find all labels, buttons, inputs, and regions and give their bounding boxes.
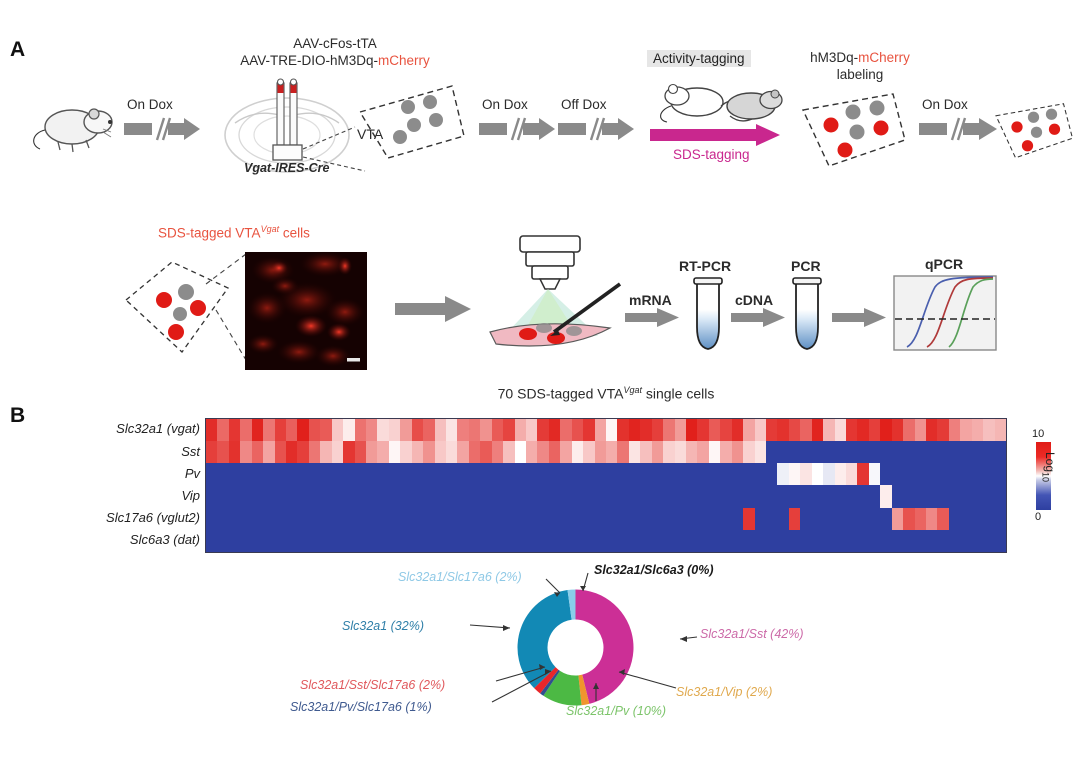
sds-tagged-cells-suffix: cells <box>279 226 310 241</box>
heatmap-cell <box>457 441 468 463</box>
heatmap-cell <box>457 463 468 485</box>
heatmap-cell <box>960 485 971 507</box>
heatmap-cell <box>446 441 457 463</box>
heatmap-cell <box>697 530 708 552</box>
heatmap-cell <box>377 530 388 552</box>
heatmap-cell <box>606 441 617 463</box>
heatmap-cell <box>309 441 320 463</box>
heatmap-cell <box>972 419 983 441</box>
heatmap-cell <box>457 419 468 441</box>
heatmap-cell <box>640 530 651 552</box>
heatmap-cell <box>515 485 526 507</box>
heatmap-cell <box>572 441 583 463</box>
heatmap-cell <box>343 463 354 485</box>
heatmap-cell <box>720 508 731 530</box>
heatmap-cell <box>663 441 674 463</box>
heatmap-cell <box>777 463 788 485</box>
heatmap-cell <box>377 508 388 530</box>
heatmap-cell <box>857 508 868 530</box>
heatmap-cell <box>755 463 766 485</box>
heatmap-cell <box>766 463 777 485</box>
heatmap-cell <box>983 463 994 485</box>
heatmap-cell <box>766 419 777 441</box>
mcherry-microscopy-image <box>245 252 367 370</box>
pcr-label: PCR <box>791 258 821 274</box>
heatmap-cell <box>492 508 503 530</box>
heatmap-cell <box>743 463 754 485</box>
heatmap-cell <box>663 463 674 485</box>
heatmap-cell <box>595 441 606 463</box>
heatmap-cell <box>800 419 811 441</box>
heatmap-cell <box>686 485 697 507</box>
heatmap-cell <box>983 530 994 552</box>
heatmap-cell <box>892 463 903 485</box>
heatmap-cell <box>240 463 251 485</box>
heatmap-cell <box>412 441 423 463</box>
heatmap-cell <box>846 485 857 507</box>
heatmap-cell <box>366 419 377 441</box>
heatmap-cell <box>915 530 926 552</box>
heatmap-cell <box>697 419 708 441</box>
heatmap-cell <box>469 485 480 507</box>
heatmap-cell <box>915 508 926 530</box>
heatmap-cell <box>377 463 388 485</box>
heatmap-cell <box>526 485 537 507</box>
heatmap-cell <box>446 530 457 552</box>
heatmap-cell <box>903 508 914 530</box>
heatmap-cell <box>217 441 228 463</box>
heatmap-cell <box>743 485 754 507</box>
heatmap-cell <box>915 441 926 463</box>
heatmap-cell <box>983 441 994 463</box>
heatmap-cell <box>332 419 343 441</box>
panel-a-letter: A <box>10 38 25 62</box>
off-dox-label: Off Dox <box>561 97 607 112</box>
heatmap-cell <box>526 530 537 552</box>
heatmap-cell <box>915 419 926 441</box>
heatmap-cell <box>709 530 720 552</box>
heatmap-cell <box>640 485 651 507</box>
heatmap-cell <box>983 485 994 507</box>
activity-tagging-label: Activity-tagging <box>647 50 751 67</box>
heatmap-cell <box>423 508 434 530</box>
heatmap-cell <box>903 530 914 552</box>
heatmap-cell <box>995 508 1006 530</box>
heatmap-cell <box>435 441 446 463</box>
heatmap-cell <box>903 419 914 441</box>
heatmap-cell <box>823 530 834 552</box>
heatmap-cell <box>777 441 788 463</box>
heatmap-cell <box>846 530 857 552</box>
heatmap-cell <box>377 485 388 507</box>
heatmap-cell <box>240 530 251 552</box>
heatmap-cell <box>206 485 217 507</box>
on-dox-label-3: On Dox <box>922 97 968 112</box>
heatmap-cell <box>355 419 366 441</box>
heatmap-cell <box>549 508 560 530</box>
row-label-slc17a6: Slc17a6 (vglut2) <box>20 507 200 529</box>
heatmap-cell <box>606 419 617 441</box>
heatmap-cell <box>663 530 674 552</box>
heatmap-cell <box>343 441 354 463</box>
heatmap-cell <box>412 485 423 507</box>
heatmap-cell <box>423 419 434 441</box>
heatmap-cell <box>777 508 788 530</box>
heatmap-cell <box>549 441 560 463</box>
heatmap-cell <box>515 530 526 552</box>
heatmap-cell <box>697 508 708 530</box>
heatmap-cell <box>606 463 617 485</box>
heatmap-cell <box>446 419 457 441</box>
heatmap-cell <box>309 463 320 485</box>
row-label-pv: Pv <box>20 463 200 485</box>
gene-expression-heatmap[interactable] <box>205 418 1007 553</box>
heatmap-cell <box>732 530 743 552</box>
rtpcr-label: RT-PCR <box>679 258 731 274</box>
heatmap-cell <box>629 530 640 552</box>
heatmap-cell <box>937 485 948 507</box>
heatmap-cell <box>755 508 766 530</box>
heatmap-cell <box>492 463 503 485</box>
on-dox-arrow-1 <box>124 116 202 142</box>
heatmap-cell <box>423 463 434 485</box>
heatmap-cell <box>686 508 697 530</box>
vta-wedge-2-labeled <box>795 88 915 178</box>
heatmap-cell <box>492 485 503 507</box>
heatmap-cell <box>332 441 343 463</box>
heatmap-cell <box>560 485 571 507</box>
heatmap-cell <box>389 485 400 507</box>
heatmap-cell <box>526 463 537 485</box>
colorbar-title-subscript: 10 <box>1041 472 1051 482</box>
heatmap-cell <box>960 419 971 441</box>
heatmap-cell <box>777 530 788 552</box>
heatmap-cell <box>252 508 263 530</box>
heatmap-cell <box>915 463 926 485</box>
heatmap-cell <box>595 530 606 552</box>
heatmap-cell <box>400 463 411 485</box>
heatmap-cell <box>435 463 446 485</box>
heatmap-cell <box>892 485 903 507</box>
heatmap-cell <box>275 485 286 507</box>
heatmap-cell <box>640 463 651 485</box>
heatmap-cell <box>206 419 217 441</box>
heatmap-cell <box>800 530 811 552</box>
heatmap-cell <box>583 463 594 485</box>
heatmap-cell <box>423 441 434 463</box>
heatmap-cell <box>812 485 823 507</box>
mcherry-label-2: mCherry <box>858 50 910 65</box>
mrna-arrow <box>625 308 681 328</box>
heatmap-cell <box>275 441 286 463</box>
heatmap-cell <box>595 508 606 530</box>
heatmap-cell <box>743 419 754 441</box>
heatmap-cell <box>229 441 240 463</box>
heatmap-cell <box>503 485 514 507</box>
heatmap-cell <box>492 441 503 463</box>
heatmap-cell <box>949 485 960 507</box>
heatmap-cell <box>800 463 811 485</box>
heatmap-cell <box>435 508 446 530</box>
heatmap-cell <box>915 485 926 507</box>
heatmap-cell <box>800 508 811 530</box>
heatmap-cell <box>412 530 423 552</box>
heatmap-cell <box>617 508 628 530</box>
heatmap-cell <box>309 485 320 507</box>
cdna-label: cDNA <box>735 292 773 308</box>
heatmap-cell <box>400 530 411 552</box>
heatmap-cell <box>800 441 811 463</box>
heatmap-cell <box>789 463 800 485</box>
heatmap-cell <box>880 463 891 485</box>
on-dox-label-2: On Dox <box>482 97 528 112</box>
heatmap-cell <box>435 485 446 507</box>
heatmap-cell <box>583 508 594 530</box>
heatmap-cell <box>743 530 754 552</box>
heatmap-cell <box>229 530 240 552</box>
heatmap-cell <box>263 508 274 530</box>
heatmap-cell <box>720 419 731 441</box>
mouse-illustration-1 <box>28 95 120 157</box>
heatmap-cell <box>995 485 1006 507</box>
heatmap-cell <box>366 485 377 507</box>
heatmap-cell <box>286 463 297 485</box>
qpcr-plot-icon <box>893 275 997 351</box>
heatmap-cell <box>412 419 423 441</box>
sds-tagging-arrow <box>650 124 784 146</box>
heatmap-cell <box>720 463 731 485</box>
heatmap-cell <box>560 419 571 441</box>
heatmap-cell <box>937 463 948 485</box>
heatmap-cell <box>560 441 571 463</box>
heatmap-cell <box>709 508 720 530</box>
heatmap-cell <box>617 485 628 507</box>
heatmap-cell <box>629 419 640 441</box>
heatmap-cell <box>560 463 571 485</box>
heatmap-cell <box>972 441 983 463</box>
heatmap-cell <box>629 508 640 530</box>
heatmap-cell <box>857 463 868 485</box>
heatmap-cell <box>389 441 400 463</box>
heatmap-cell <box>789 530 800 552</box>
heatmap-cell <box>366 441 377 463</box>
heatmap-cell <box>515 463 526 485</box>
heatmap-cell <box>617 530 628 552</box>
heatmap-cell <box>949 530 960 552</box>
heatmap-cell <box>789 419 800 441</box>
heatmap-cell <box>252 463 263 485</box>
heatmap-cell <box>652 530 663 552</box>
heatmap-cell <box>583 485 594 507</box>
heatmap-cell <box>275 508 286 530</box>
heatmap-cell <box>595 419 606 441</box>
heatmap-cell <box>320 463 331 485</box>
heatmap-cell <box>617 463 628 485</box>
heatmap-cell <box>720 485 731 507</box>
heatmap-cell <box>355 463 366 485</box>
heatmap-cell <box>217 508 228 530</box>
heatmap-cell <box>297 508 308 530</box>
heatmap-cell <box>835 530 846 552</box>
heatmap-cell <box>252 419 263 441</box>
heatmap-cell <box>286 508 297 530</box>
heatmap-cell <box>526 441 537 463</box>
heatmap-cell <box>252 530 263 552</box>
heatmap-cell <box>595 463 606 485</box>
heatmap-cell <box>320 485 331 507</box>
heatmap-cell <box>789 485 800 507</box>
heatmap-cell <box>469 530 480 552</box>
heatmap-cell <box>343 419 354 441</box>
heatmap-cell <box>995 441 1006 463</box>
heatmap-cell <box>812 419 823 441</box>
heatmap-cell <box>572 463 583 485</box>
heatmap-cell <box>903 485 914 507</box>
heatmap-cell <box>537 441 548 463</box>
heatmap-cell <box>640 441 651 463</box>
heatmap-cell <box>389 419 400 441</box>
heatmap-cell <box>503 441 514 463</box>
heatmap-cell <box>835 485 846 507</box>
heatmap-cell <box>766 485 777 507</box>
heatmap-cell <box>389 530 400 552</box>
heatmap-cell <box>880 485 891 507</box>
heatmap-cell <box>275 463 286 485</box>
vta-label-1: VTA <box>357 126 383 142</box>
heatmap-cell <box>812 530 823 552</box>
heatmap-cell <box>560 508 571 530</box>
heatmap-cell <box>686 419 697 441</box>
heatmap-cell <box>503 419 514 441</box>
heatmap-cell <box>377 441 388 463</box>
heatmap-cell <box>743 508 754 530</box>
heatmap-cell <box>366 463 377 485</box>
heatmap-cell <box>355 485 366 507</box>
heatmap-cell <box>972 508 983 530</box>
heatmap-cell <box>640 419 651 441</box>
heatmap-cell <box>675 463 686 485</box>
heatmap-cell <box>835 463 846 485</box>
heatmap-cell <box>480 485 491 507</box>
heatmap-cell <box>846 508 857 530</box>
heatmap-cell <box>926 419 937 441</box>
heatmap-cell <box>926 508 937 530</box>
rtpcr-tube-icon <box>690 277 726 353</box>
heatmap-cell <box>469 441 480 463</box>
heatmap-cell <box>400 508 411 530</box>
vta-wedge-zoom-source <box>120 248 250 363</box>
heatmap-cell <box>709 485 720 507</box>
heatmap-cell <box>949 463 960 485</box>
heatmap-cell <box>652 508 663 530</box>
hm3dq-text: hM3Dq- <box>810 50 858 65</box>
virus-construct-line1: AAV-cFos-tTA <box>210 36 460 51</box>
heatmap-cell <box>549 530 560 552</box>
heatmap-cell <box>766 441 777 463</box>
heatmap-cell <box>949 419 960 441</box>
heatmap-cell <box>457 508 468 530</box>
vta-wedge-3-labeled <box>990 88 1080 178</box>
heatmap-cell <box>217 530 228 552</box>
heatmap-cell <box>617 441 628 463</box>
heatmap-cell <box>972 463 983 485</box>
heatmap-cell <box>903 463 914 485</box>
heatmap-cell <box>595 485 606 507</box>
heatmap-cell <box>572 485 583 507</box>
heatmap-cell <box>286 530 297 552</box>
heatmap-cell <box>297 419 308 441</box>
heatmap-cell <box>286 419 297 441</box>
heatmap-cell <box>549 485 560 507</box>
heatmap-cell <box>206 441 217 463</box>
heatmap-cell <box>229 508 240 530</box>
heatmap-cell <box>800 485 811 507</box>
heatmap-cell <box>332 530 343 552</box>
heatmap-cell <box>812 441 823 463</box>
heatmap-cell <box>755 441 766 463</box>
heatmap-cell <box>492 419 503 441</box>
heatmap-cell <box>606 530 617 552</box>
heatmap-cell <box>332 463 343 485</box>
heatmap-cell <box>697 441 708 463</box>
heatmap-cell <box>857 419 868 441</box>
heatmap-cell <box>240 419 251 441</box>
heatmap-cell <box>560 530 571 552</box>
heatmap-cell <box>709 463 720 485</box>
heatmap-cell <box>869 463 880 485</box>
colorbar-title: Log10 <box>1057 450 1080 468</box>
heatmap-cell <box>675 419 686 441</box>
heatmap-cell <box>926 485 937 507</box>
heatmap-cell <box>275 530 286 552</box>
heatmap-cell <box>937 530 948 552</box>
heatmap-cell <box>835 508 846 530</box>
heatmap-cell <box>297 485 308 507</box>
heatmap-cell <box>572 530 583 552</box>
heatmap-cell <box>697 463 708 485</box>
heatmap-cell <box>835 419 846 441</box>
heatmap-cell <box>652 419 663 441</box>
heatmap-cell <box>217 463 228 485</box>
heatmap-cell <box>537 485 548 507</box>
heatmap-cell <box>297 530 308 552</box>
heatmap-cell <box>629 463 640 485</box>
heatmap-cell <box>309 530 320 552</box>
heatmap-cell <box>263 463 274 485</box>
heatmap-cell <box>240 485 251 507</box>
heatmap-cell <box>755 419 766 441</box>
heatmap-title: 70 SDS-tagged VTAVgat single cells <box>406 385 806 402</box>
heatmap-cell <box>675 530 686 552</box>
heatmap-cell <box>995 419 1006 441</box>
heatmap-cell <box>937 441 948 463</box>
heatmap-cell <box>972 530 983 552</box>
heatmap-cell <box>332 485 343 507</box>
heatmap-cell <box>732 485 743 507</box>
heatmap-cell <box>492 530 503 552</box>
heatmap-cell <box>503 463 514 485</box>
heatmap-cell <box>537 530 548 552</box>
heatmap-cell <box>732 441 743 463</box>
sds-tagging-label: SDS-tagging <box>673 147 750 162</box>
heatmap-cell <box>263 419 274 441</box>
heatmap-cell <box>229 463 240 485</box>
process-arrow-1 <box>395 295 473 323</box>
heatmap-cell <box>252 441 263 463</box>
heatmap-cell <box>343 485 354 507</box>
mcherry-label: mCherry <box>378 53 430 68</box>
qpcr-label: qPCR <box>925 256 963 272</box>
